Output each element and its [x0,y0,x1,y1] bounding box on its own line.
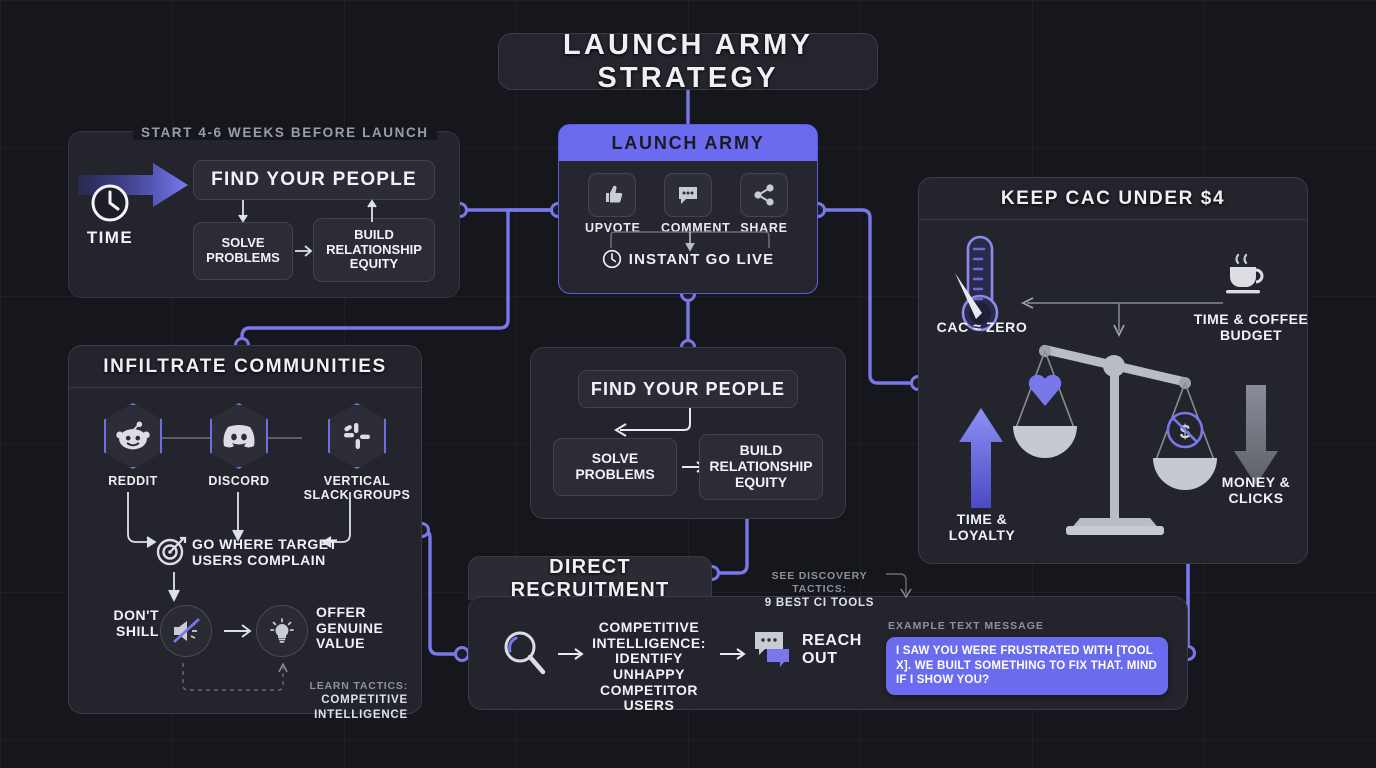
reach-out-label: REACH OUT [802,632,872,668]
chat-bubble-icon [753,630,797,672]
infiltrate-xref-main: COMPETITIVE INTELLIGENCE [248,693,408,722]
launch-army-actions: UPVOTE COMMENT SHARE [559,173,817,235]
dont-shill-label: DON'T SHILL [103,608,159,639]
cac-header: KEEP CAC UNDER $4 [919,178,1307,220]
infiltrate-header: INFILTRATE COMMUNITIES [69,346,421,388]
direct-xref-arrow [884,572,910,600]
arrow-right-icon [556,645,586,663]
launch-army-merge-arrows [607,230,773,254]
diagram-canvas: LAUNCH ARMY STRATEGY START 4-6 WEEKS BEF… [0,0,1376,768]
connector-infiltrate-to-direct [422,530,462,654]
target-icon [155,535,187,567]
launch-army-panel: LAUNCH ARMY UPVOTE COMMENT SHARE [558,124,818,294]
slack-icon [328,403,386,469]
start-group-label: START 4-6 WEEKS BEFORE LAUNCH [133,125,437,140]
magnifier-icon [500,628,548,678]
comment-action[interactable]: COMMENT [661,173,715,235]
coffee-cup-icon [1222,253,1276,299]
thumbs-up-icon [588,173,636,217]
infiltrate-xref-small: LEARN TACTICS: [310,680,409,692]
up-arrow-icon [955,408,1007,510]
start-group-arrow-right [294,243,316,259]
down-arrow-icon [1230,385,1282,487]
discord-icon [210,403,268,469]
mid-build-relationship-equity-box[interactable]: BUILD RELATIONSHIP EQUITY [699,434,823,500]
infiltrate-title: INFILTRATE COMMUNITIES [103,356,387,378]
upvote-action[interactable]: UPVOTE [585,173,639,235]
share-action[interactable]: SHARE [737,173,791,235]
mid-fyp-elbow-arrow [608,408,698,440]
connector-node [456,648,469,661]
example-text-message-label: EXAMPLE TEXT MESSAGE [888,620,1044,632]
go-where-target-users-complain-label: GO WHERE TARGET USERS COMPLAIN [192,537,362,568]
page-title-node: LAUNCH ARMY STRATEGY [498,33,878,90]
direct-xref[interactable]: SEE DISCOVERY TACTICS: 9 BEST CI TOOLS [752,570,887,611]
discord-label: DISCORD [196,475,282,489]
competitive-intelligence-step: COMPETITIVE INTELLIGENCE: IDENTIFY UNHAP… [590,620,708,714]
direct-xref-small: SEE DISCOVERY TACTICS: [772,570,868,595]
muted-megaphone-icon [160,605,212,657]
infiltrate-xref[interactable]: LEARN TACTICS: COMPETITIVE INTELLIGENCE [248,680,408,722]
offer-genuine-value-label: OFFER GENUINE VALUE [316,605,406,652]
start-solve-problems-box[interactable]: SOLVE PROBLEMS [193,222,293,280]
arrow-down-icon [164,572,184,602]
direct-recruitment-tab: DIRECT RECRUITMENT [468,556,712,600]
platform-slack[interactable]: VERTICAL SLACK GROUPS [302,403,412,503]
connector-midfyp-to-direct [712,519,747,573]
page-title: LAUNCH ARMY STRATEGY [499,29,877,95]
start-find-your-people-box[interactable]: FIND YOUR PEOPLE [193,160,435,200]
platform-discord[interactable]: DISCORD [196,403,282,489]
launch-army-header: LAUNCH ARMY [559,125,817,161]
no-money-icon: $ [1168,413,1202,447]
arrow-right-icon [222,622,256,640]
platform-reddit[interactable]: REDDIT [90,403,176,489]
mid-find-your-people-box[interactable]: FIND YOUR PEOPLE [578,370,798,408]
start-group-arrows [186,198,446,228]
reddit-icon [104,403,162,469]
arrow-right-icon [718,645,748,663]
lightbulb-icon [256,605,308,657]
cac-title: KEEP CAC UNDER $4 [1001,188,1225,210]
clock-icon [90,183,130,223]
balance-scale-icon: $ [1008,330,1233,545]
direct-xref-main: 9 BEST CI TOOLS [752,596,887,610]
time-label: TIME [78,228,142,247]
mid-solve-problems-box[interactable]: SOLVE PROBLEMS [553,438,677,496]
example-message-bubble: I SAW YOU WERE FRUSTRATED WITH [TOOL X].… [886,637,1168,695]
comment-icon [664,173,712,217]
reddit-label: REDDIT [90,475,176,489]
share-icon [740,173,788,217]
direct-recruitment-title: DIRECT RECRUITMENT [469,556,711,602]
